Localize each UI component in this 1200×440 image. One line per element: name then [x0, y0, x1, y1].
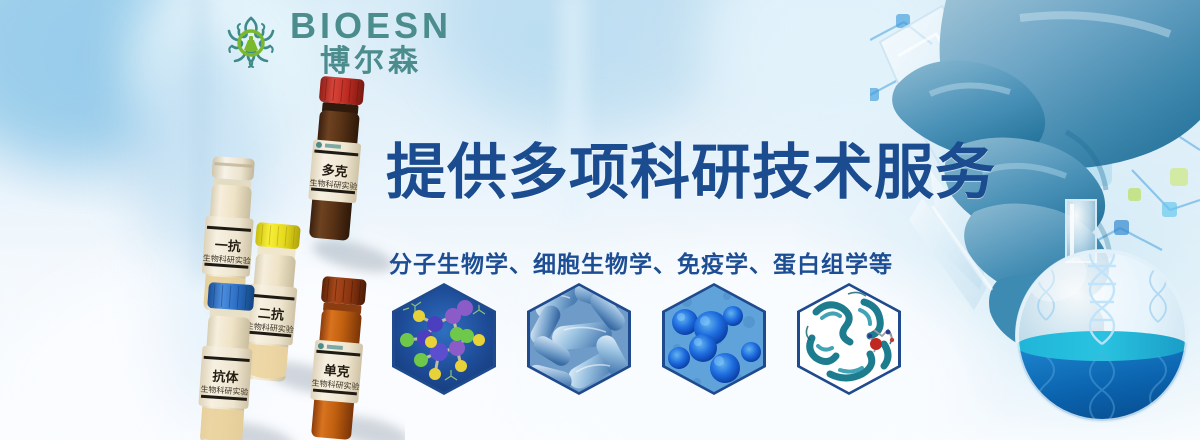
- vial-monoclonal: 单克 生物科研实验: [307, 276, 369, 440]
- brand-name-cn: 博尔森: [320, 47, 422, 77]
- page-subtitle: 分子生物学、细胞生物学、免疫学、蛋白组学等: [386, 245, 896, 279]
- hex-proteomics[interactable]: [797, 283, 901, 395]
- headline-block: 提供多项科研技术服务 分子生物学、细胞生物学、免疫学、蛋白组学等: [386, 124, 946, 279]
- service-hexagon-row: [392, 283, 902, 395]
- hex-molecular-biology[interactable]: [392, 283, 496, 395]
- svg-text:单克: 单克: [323, 362, 350, 380]
- background-blob: [440, 0, 740, 130]
- page-title: 提供多项科研技术服务: [386, 124, 946, 211]
- background-blob: [0, 0, 200, 160]
- marketing-banner: 多克 生物科研实验 一抗 生物科研实验: [0, 0, 1200, 440]
- background-blob: [700, 0, 960, 140]
- bioesn-hexagon-flask-logomark: [218, 10, 284, 76]
- svg-text:二抗: 二抗: [257, 305, 284, 323]
- brand-logo[interactable]: BIOESN 博尔森: [218, 8, 452, 77]
- svg-text:一抗: 一抗: [214, 237, 241, 255]
- round-flask-with-blue-liquid: [1010, 196, 1200, 440]
- hex-immunology[interactable]: [662, 283, 766, 395]
- hex-cell-biology[interactable]: [527, 283, 631, 395]
- svg-text:抗体: 抗体: [212, 368, 240, 386]
- vial-polyclonal: 多克 生物科研实验: [305, 76, 367, 242]
- brand-name-en: BIOESN: [290, 8, 452, 44]
- antibody-vial-cluster: 多克 生物科研实验 一抗 生物科研实验: [195, 60, 405, 440]
- svg-text:多克: 多克: [321, 162, 348, 180]
